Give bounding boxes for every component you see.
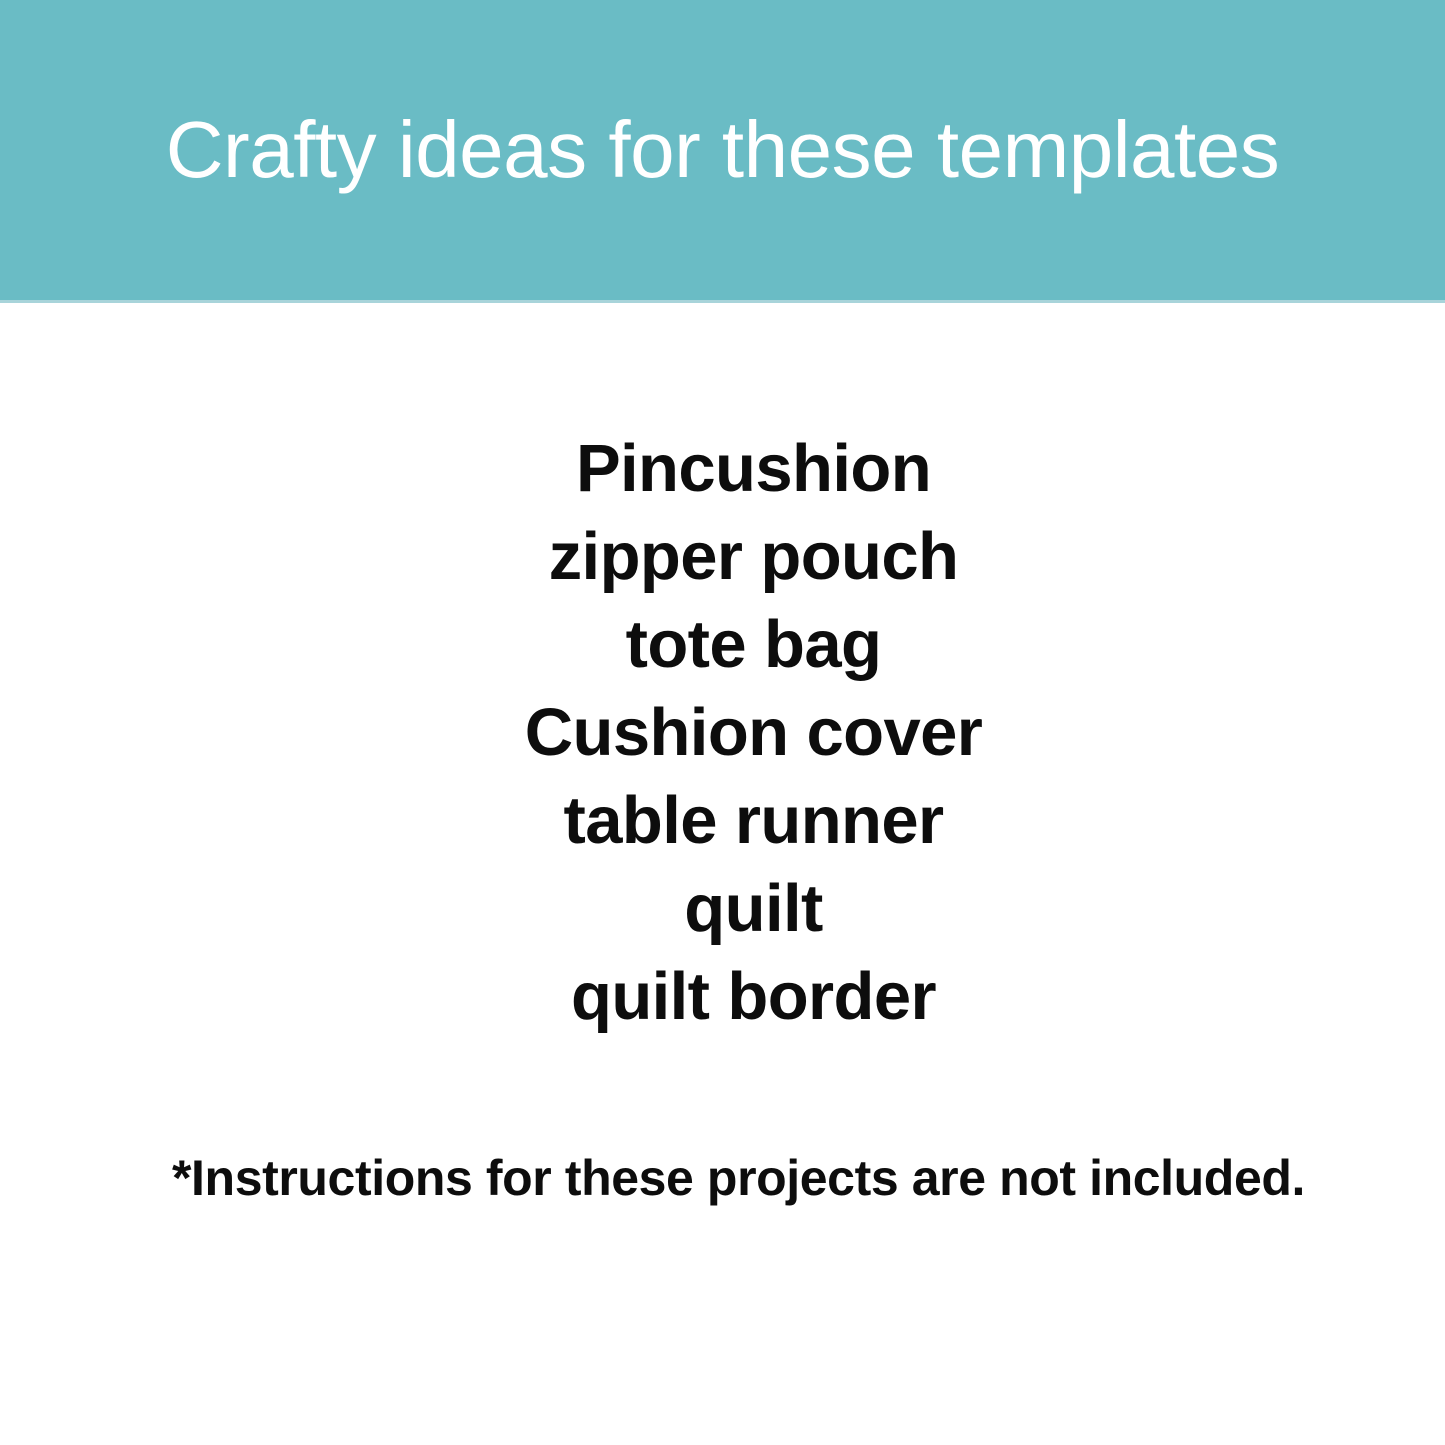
body-content: Pincushion zipper pouch tote bag Cushion…	[0, 303, 1445, 1445]
list-item: quilt	[31, 865, 1445, 953]
list-item: tote bag	[31, 601, 1445, 689]
list-item: Cushion cover	[31, 689, 1445, 777]
list-item: table runner	[31, 777, 1445, 865]
crafty-ideas-list: Pincushion zipper pouch tote bag Cushion…	[0, 425, 1445, 1041]
page-title: Crafty ideas for these templates	[146, 108, 1299, 192]
disclaimer-footnote: *Instructions for these projects are not…	[16, 1148, 1445, 1208]
header-banner: Crafty ideas for these templates	[0, 0, 1445, 303]
list-item: Pincushion	[31, 425, 1445, 513]
crafty-ideas-page: Crafty ideas for these templates Pincush…	[0, 0, 1445, 1445]
list-item: quilt border	[31, 953, 1445, 1041]
list-item: zipper pouch	[31, 513, 1445, 601]
